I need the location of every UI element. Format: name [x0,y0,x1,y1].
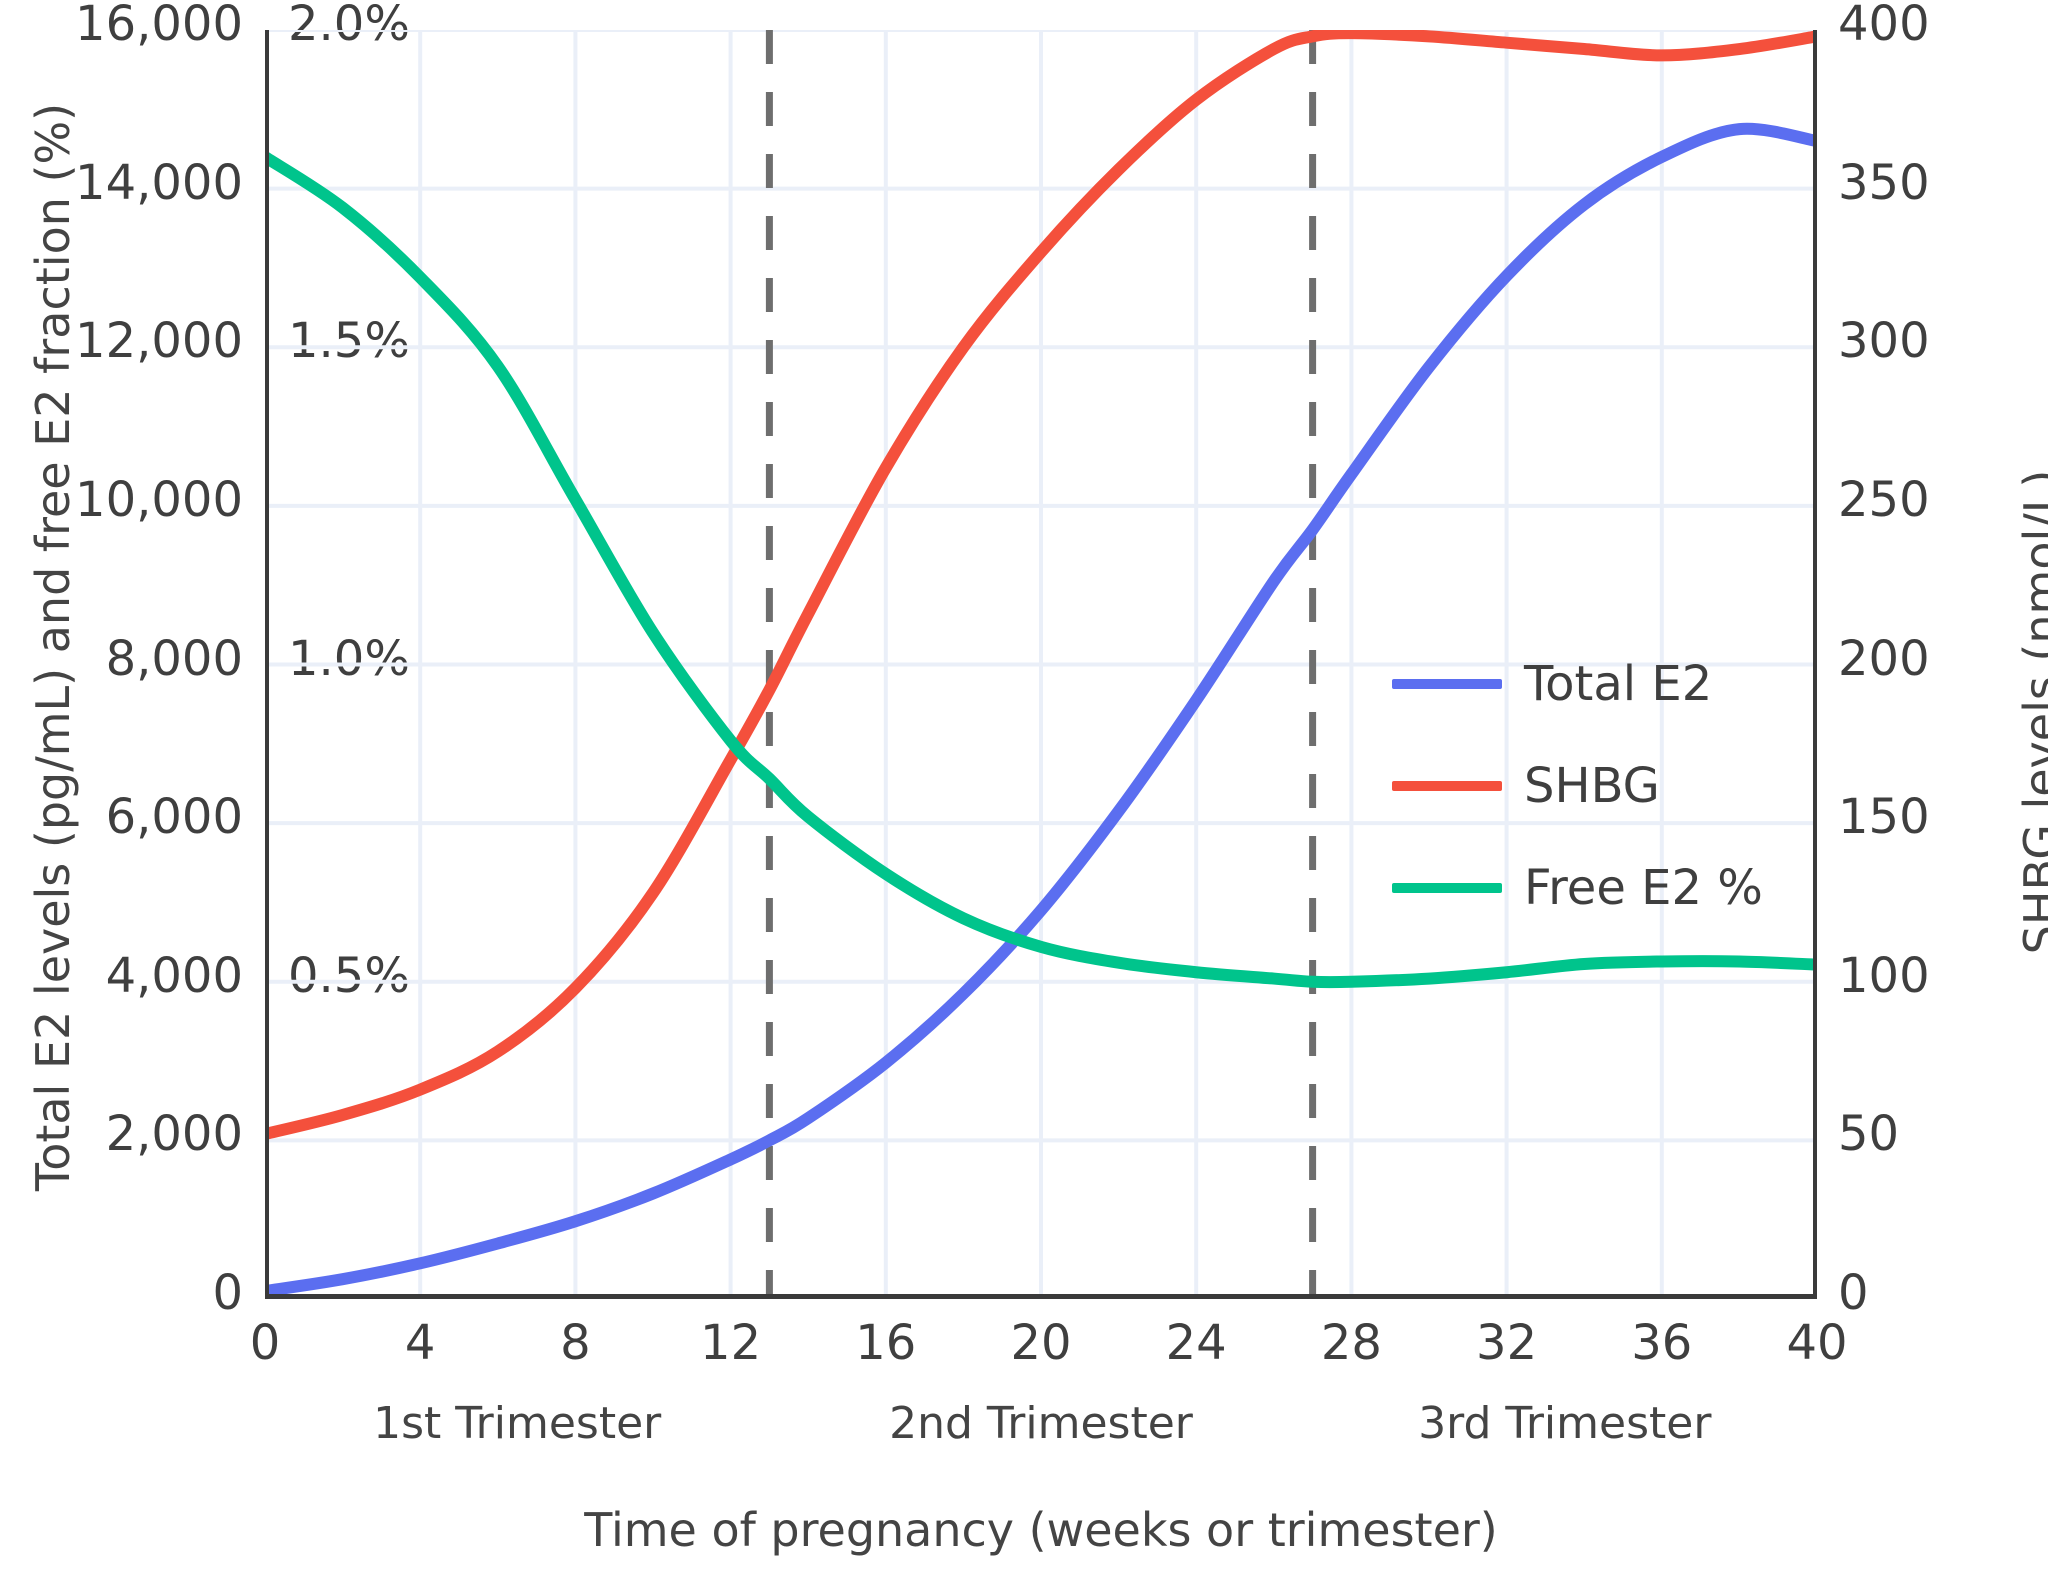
x-tick-label: 28 [1271,1315,1431,1371]
y-tick-label-left: 12,000 [8,313,243,369]
x-tick-label: 36 [1582,1315,1742,1371]
y-tick-label-left: 10,000 [8,472,243,528]
y-tick-label-right: 350 [1838,155,2038,211]
x-tick-label: 0 [185,1315,345,1371]
x-axis-title: Time of pregnancy (weeks or trimester) [265,1503,1817,1557]
x-tick-label: 32 [1427,1315,1587,1371]
y-tick-label-left: 8,000 [8,631,243,687]
x-tick-label: 20 [961,1315,1121,1371]
trimester-label: 2nd Trimester [781,1398,1301,1449]
y-tick-label-left: 16,000 [8,0,243,52]
legend-label-free-e2: Free E2 % [1524,864,1763,912]
x-tick-label: 40 [1737,1315,1897,1371]
legend-item-shbg[interactable]: SHBG [1392,762,1763,810]
y-tick-label-right: 200 [1838,631,2038,687]
y-tick-label-left: 4,000 [8,948,243,1004]
trimester-label: 1st Trimester [257,1398,777,1449]
y-tick-label-right: 300 [1838,313,2038,369]
y-tick-label-left: 2,000 [8,1106,243,1162]
chart-legend: Total E2 SHBG Free E2 % [1392,660,1763,912]
legend-label-shbg: SHBG [1524,762,1660,810]
x-tick-label: 8 [495,1315,655,1371]
legend-swatch-total-e2 [1392,679,1502,689]
y-tick-label-right: 150 [1838,789,2038,845]
y-tick-label-right: 50 [1838,1106,2038,1162]
legend-item-total-e2[interactable]: Total E2 [1392,660,1763,708]
x-tick-label: 4 [340,1315,500,1371]
x-tick-label: 24 [1116,1315,1276,1371]
y-tick-label-right: 0 [1838,1265,2038,1321]
chart-figure: Total E2 levels (pg/mL) and free E2 frac… [0,0,2048,1582]
y-tick-label-left: 14,000 [8,155,243,211]
y-tick-label-right: 100 [1838,948,2038,1004]
y-tick-label-right: 250 [1838,472,2038,528]
y-tick-label-left: 0 [8,1265,243,1321]
trimester-label: 3rd Trimester [1305,1398,1825,1449]
x-tick-label: 16 [806,1315,966,1371]
legend-label-total-e2: Total E2 [1524,660,1712,708]
legend-swatch-shbg [1392,781,1502,791]
y-tick-label-left: 6,000 [8,789,243,845]
y-tick-label-right: 400 [1838,0,2038,52]
x-tick-label: 12 [651,1315,811,1371]
legend-swatch-free-e2 [1392,883,1502,893]
legend-item-free-e2[interactable]: Free E2 % [1392,864,1763,912]
